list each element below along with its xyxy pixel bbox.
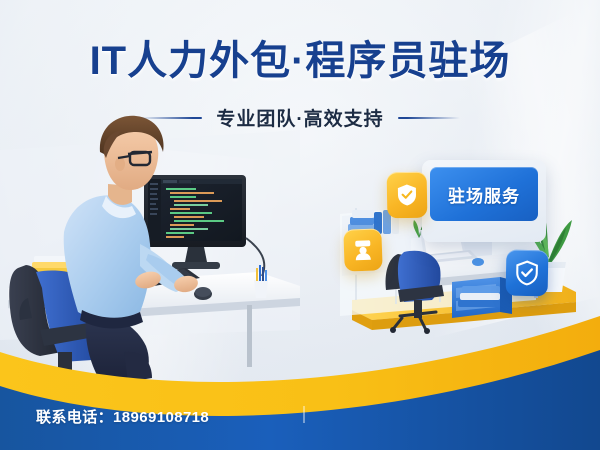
banner-image: 驻场服务 IT人力外包·程序员驻场 专业团队·高效支持 联系电话：1896910… <box>0 0 600 450</box>
right-floor-books <box>458 286 500 307</box>
monitor-card: 驻场服务 <box>430 167 538 221</box>
shield-check-icon <box>515 260 539 286</box>
subtitle: 专业团队·高效支持 <box>216 104 383 131</box>
contact-phone: 联系电话：18969108718 <box>36 406 209 427</box>
shield-check-badge-yellow <box>387 172 428 219</box>
user-badge-card-yellow <box>343 228 382 271</box>
right-mouse <box>472 258 484 266</box>
subtitle-row: 专业团队·高效支持 <box>0 104 600 131</box>
subtitle-rule-left <box>140 117 202 119</box>
user-badge-icon <box>352 239 375 262</box>
headline: IT人力外包·程序员驻场 <box>0 40 600 82</box>
shield-check-badge-blue <box>506 250 549 297</box>
footer-divider <box>303 406 305 423</box>
subtitle-rule-right <box>398 117 460 119</box>
monitor-card-label: 驻场服务 <box>448 182 520 207</box>
shield-check-icon <box>396 183 418 207</box>
headline-wrap: IT人力外包·程序员驻场 <box>0 40 600 82</box>
